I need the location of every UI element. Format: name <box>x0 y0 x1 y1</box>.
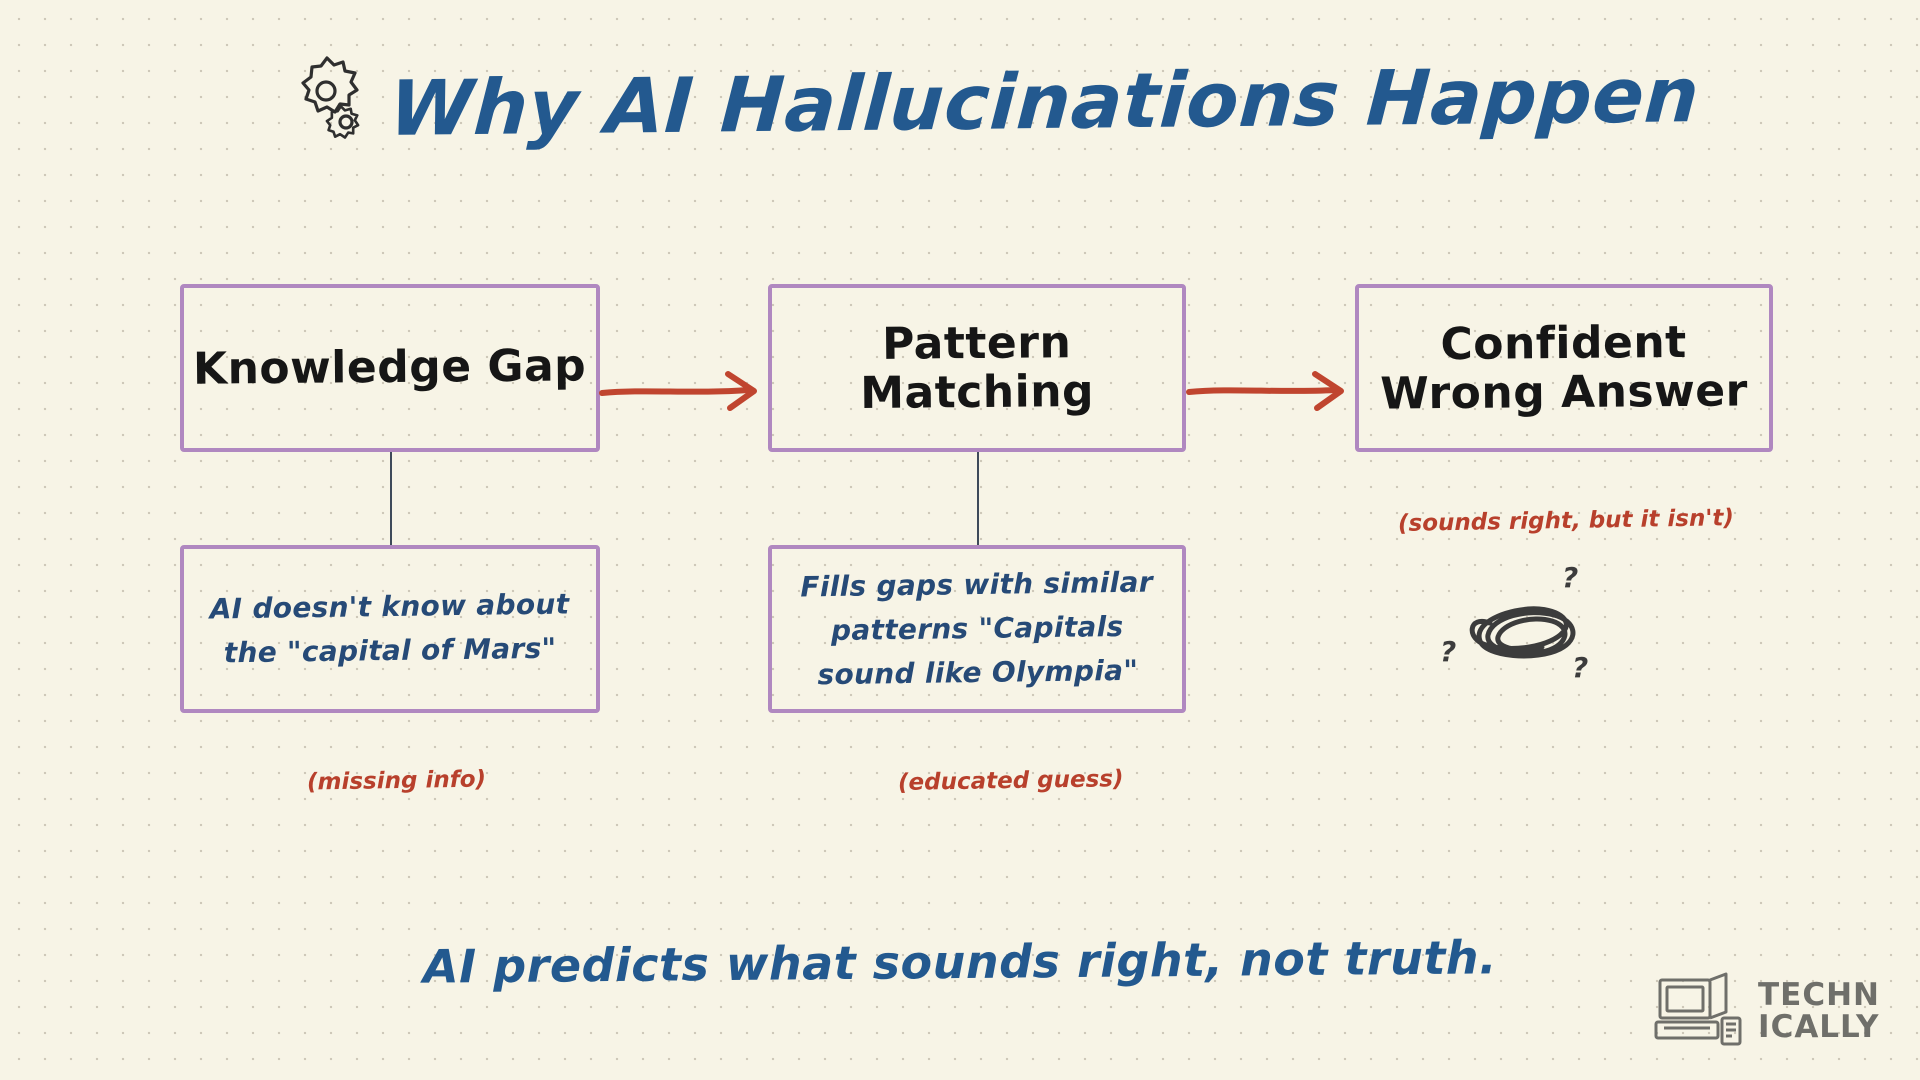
question-mark-glyph: ? <box>1572 651 1588 684</box>
flow-box-pattern-matching: Pattern Matching <box>768 284 1186 452</box>
flow-box-label-line1: Pattern <box>882 317 1072 370</box>
flow-box-label: Knowledge Gap <box>193 342 587 395</box>
flow-box-label: Confident Wrong Answer <box>1380 317 1748 419</box>
title-row: Why AI Hallucinations Happen <box>290 48 1699 154</box>
bottom-caption: AI predicts what sounds right, not truth… <box>0 927 1920 998</box>
flow-box-label: Pattern Matching <box>860 318 1095 419</box>
flow-box-label-line1: Confident <box>1440 317 1687 370</box>
detail-box-knowledge-gap: AI doesn't know about the "capital of Ma… <box>180 545 600 713</box>
detail-line: Fills gaps with similar <box>800 565 1153 603</box>
flow-box-label-line2: Wrong Answer <box>1380 365 1748 419</box>
detail-line: sound like Olympia" <box>817 654 1138 691</box>
brand-logo: TECHN ICALLY <box>1654 972 1880 1052</box>
question-mark-glyph: ? <box>1440 635 1456 668</box>
connector-line-pattern-matching <box>977 452 979 545</box>
note-missing-info: (missing info) <box>307 766 486 795</box>
logo-wordmark-line1: TECHN <box>1758 980 1880 1012</box>
detail-line: patterns "Capitals <box>831 610 1124 647</box>
arrow-right-icon <box>598 368 766 414</box>
detail-line: the "capital of Mars" <box>224 632 557 670</box>
arrow-right-icon <box>1185 368 1353 414</box>
question-mark-glyph: ? <box>1562 565 1578 594</box>
flow-box-confident-wrong-answer: Confident Wrong Answer <box>1355 284 1773 452</box>
detail-box-text: Fills gaps with similar patterns "Capita… <box>800 560 1154 698</box>
detail-box-pattern-matching: Fills gaps with similar patterns "Capita… <box>768 545 1186 713</box>
detail-line: AI doesn't know about <box>210 587 570 625</box>
flow-box-knowledge-gap: Knowledge Gap <box>180 284 600 452</box>
logo-wordmark: TECHN ICALLY <box>1758 980 1880 1043</box>
note-educated-guess: (educated guess) <box>898 766 1124 796</box>
scribble-doodle-icon: ? ? ? <box>1440 565 1640 700</box>
computer-icon <box>1654 972 1746 1052</box>
connector-line-knowledge-gap <box>390 452 392 545</box>
flow-box-label-line2: Matching <box>860 366 1094 419</box>
note-sounds-right: (sounds right, but it isn't) <box>1398 505 1734 537</box>
detail-box-text: AI doesn't know about the "capital of Ma… <box>210 582 571 675</box>
gears-icon <box>290 54 376 154</box>
logo-wordmark-line2: ICALLY <box>1758 1012 1880 1044</box>
page-title: Why AI Hallucinations Happen <box>387 50 1702 153</box>
